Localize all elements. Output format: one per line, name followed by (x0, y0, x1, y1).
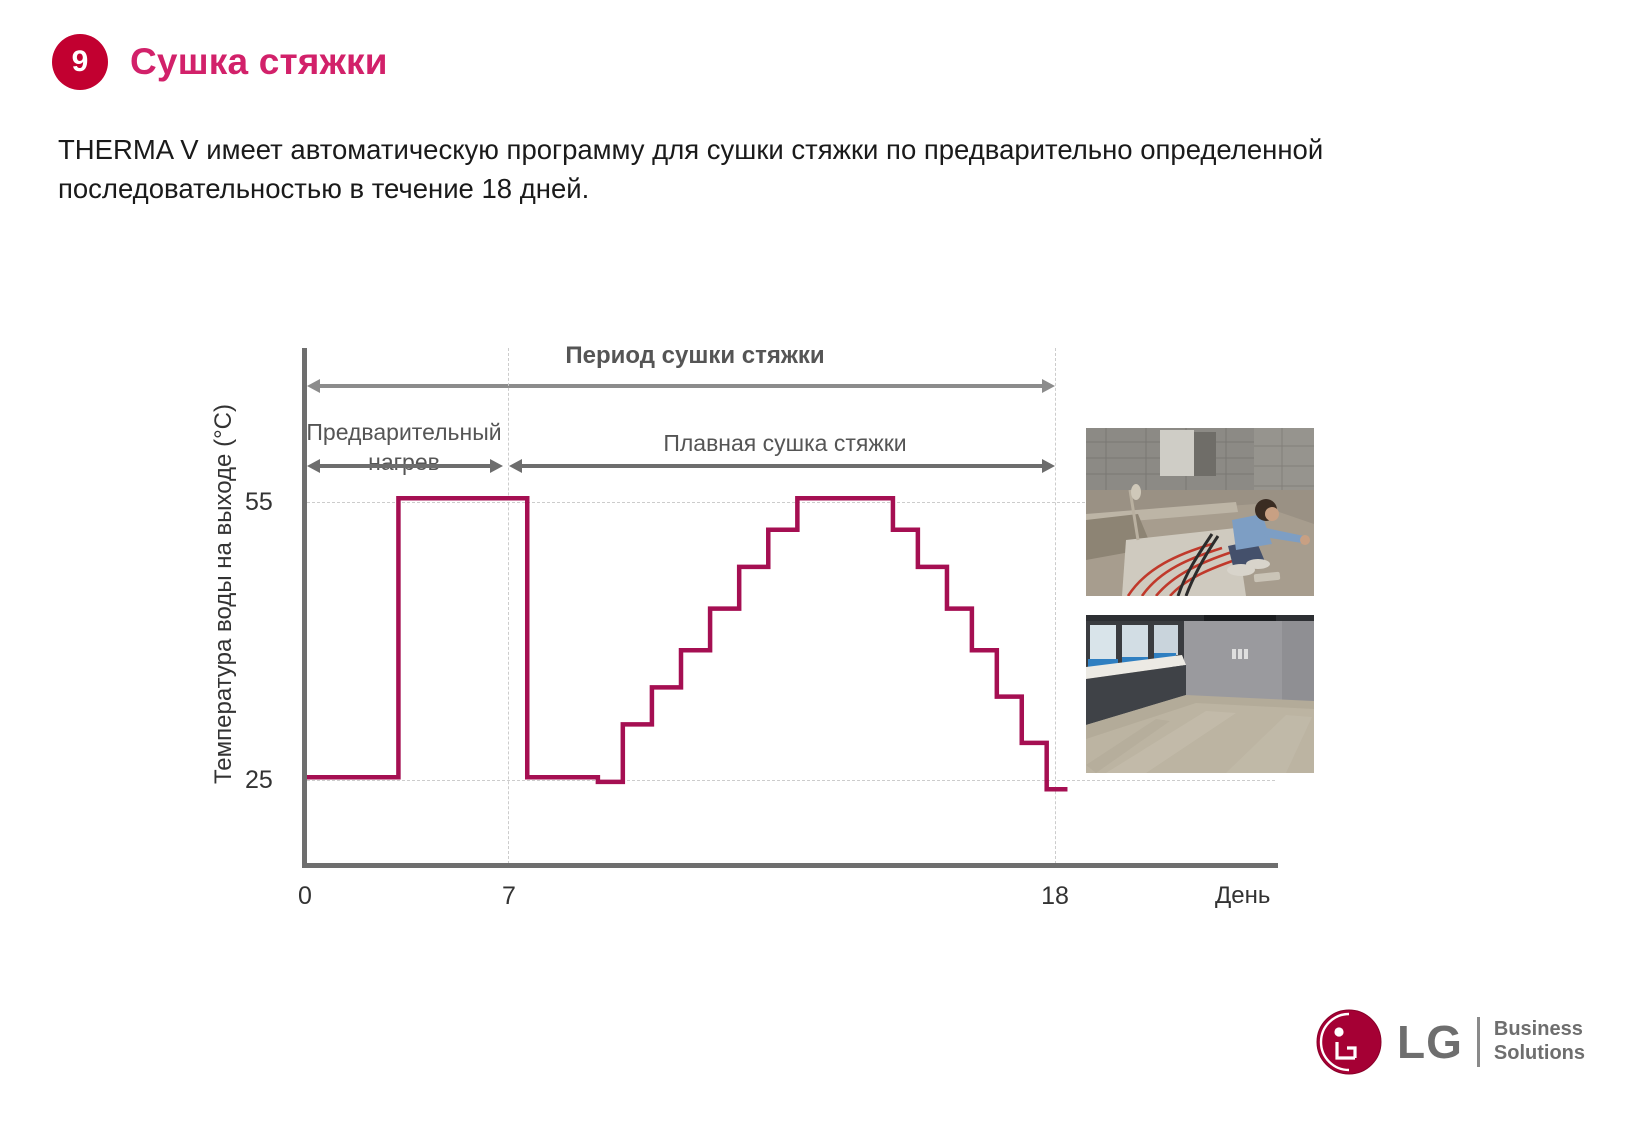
logo-divider (1477, 1017, 1480, 1067)
photo-2-content (1086, 615, 1314, 773)
intro-paragraph: THERMA V имеет автоматическую программу … (58, 130, 1348, 208)
step-number-badge: 9 (52, 34, 108, 90)
lg-business-solutions-logo: LG Business Solutions (1315, 1008, 1585, 1076)
photo-finished-screed-floor (1086, 615, 1314, 773)
lg-circle-logo-icon (1315, 1008, 1383, 1076)
photo-underfloor-heating-installation (1086, 428, 1314, 596)
lg-mark-svg (1315, 1008, 1383, 1076)
lg-wordmark: LG (1397, 1019, 1463, 1065)
temperature-step-line (307, 498, 1067, 789)
photo-1-content (1086, 428, 1314, 596)
logo-subtitle-line-1: Business (1494, 1018, 1585, 1042)
logo-subtitle-line-2: Solutions (1494, 1042, 1585, 1066)
page-header: 9 Сушка стяжки (52, 34, 388, 90)
step-number: 9 (72, 47, 89, 77)
page-title: Сушка стяжки (130, 41, 388, 83)
logo-subtitle: Business Solutions (1494, 1018, 1585, 1065)
